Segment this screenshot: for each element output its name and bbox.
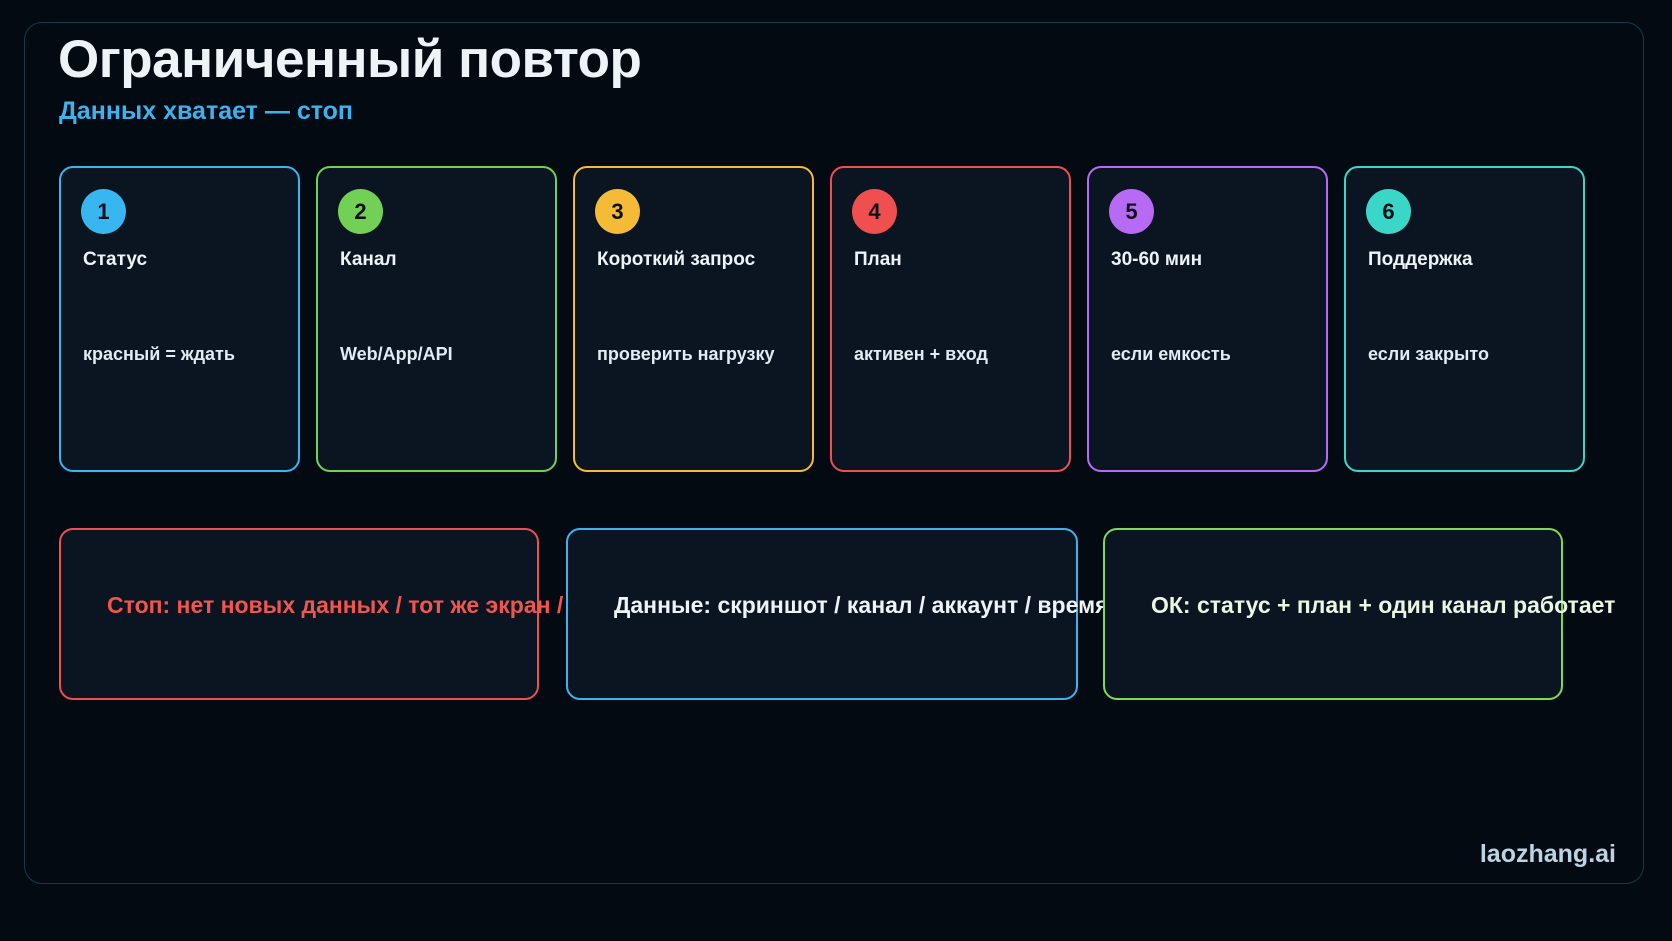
- step-card-title: Короткий запрос: [597, 249, 755, 271]
- callout-box-text: ОК: статус + план + один канал работает: [1151, 592, 1615, 619]
- step-number-badge: 5: [1109, 189, 1154, 234]
- callout-box-2[interactable]: Данные: скриншот / канал / аккаунт / вре…: [566, 528, 1078, 700]
- step-card-title: Статус: [83, 249, 147, 271]
- step-card-description: если закрыто: [1368, 344, 1489, 365]
- callout-box-1[interactable]: Стоп: нет новых данных / тот же экран / …: [59, 528, 539, 700]
- callout-box-text: Данные: скриншот / канал / аккаунт / вре…: [614, 592, 1151, 619]
- step-card-5[interactable]: 530-60 минесли емкость: [1087, 166, 1328, 472]
- step-number-badge: 3: [595, 189, 640, 234]
- page-title: Ограниченный повтор: [58, 29, 641, 90]
- step-card-description: если емкость: [1111, 344, 1231, 365]
- step-card-description: проверить нагрузку: [597, 344, 775, 365]
- callout-box-3[interactable]: ОК: статус + план + один канал работает: [1103, 528, 1563, 700]
- step-card-title: Канал: [340, 249, 397, 271]
- step-card-3[interactable]: 3Короткий запроспроверить нагрузку: [573, 166, 814, 472]
- step-card-title: Поддержка: [1368, 249, 1473, 271]
- step-card-description: Web/App/API: [340, 344, 453, 365]
- step-number-badge: 1: [81, 189, 126, 234]
- callout-box-row: Стоп: нет новых данных / тот же экран / …: [33, 528, 1644, 708]
- step-card-2[interactable]: 2КаналWeb/App/API: [316, 166, 557, 472]
- step-number-badge: 6: [1366, 189, 1411, 234]
- step-card-title: 30-60 мин: [1111, 249, 1202, 271]
- step-card-title: План: [854, 249, 902, 271]
- page-subtitle: Данных хватает — стоп: [59, 97, 353, 126]
- step-card-1[interactable]: 1Статускрасный = ждать: [59, 166, 300, 472]
- slide-container: Ограниченный повтор Данных хватает — сто…: [24, 22, 1644, 884]
- step-card-description: красный = ждать: [83, 344, 235, 365]
- step-card-6[interactable]: 6Поддержкаесли закрыто: [1344, 166, 1585, 472]
- step-card-description: активен + вход: [854, 344, 988, 365]
- watermark-label: laozhang.ai: [1480, 840, 1616, 869]
- step-card-4[interactable]: 4Планактивен + вход: [830, 166, 1071, 472]
- step-card-row: 1Статускрасный = ждать2КаналWeb/App/API3…: [33, 166, 1644, 474]
- step-number-badge: 2: [338, 189, 383, 234]
- step-number-badge: 4: [852, 189, 897, 234]
